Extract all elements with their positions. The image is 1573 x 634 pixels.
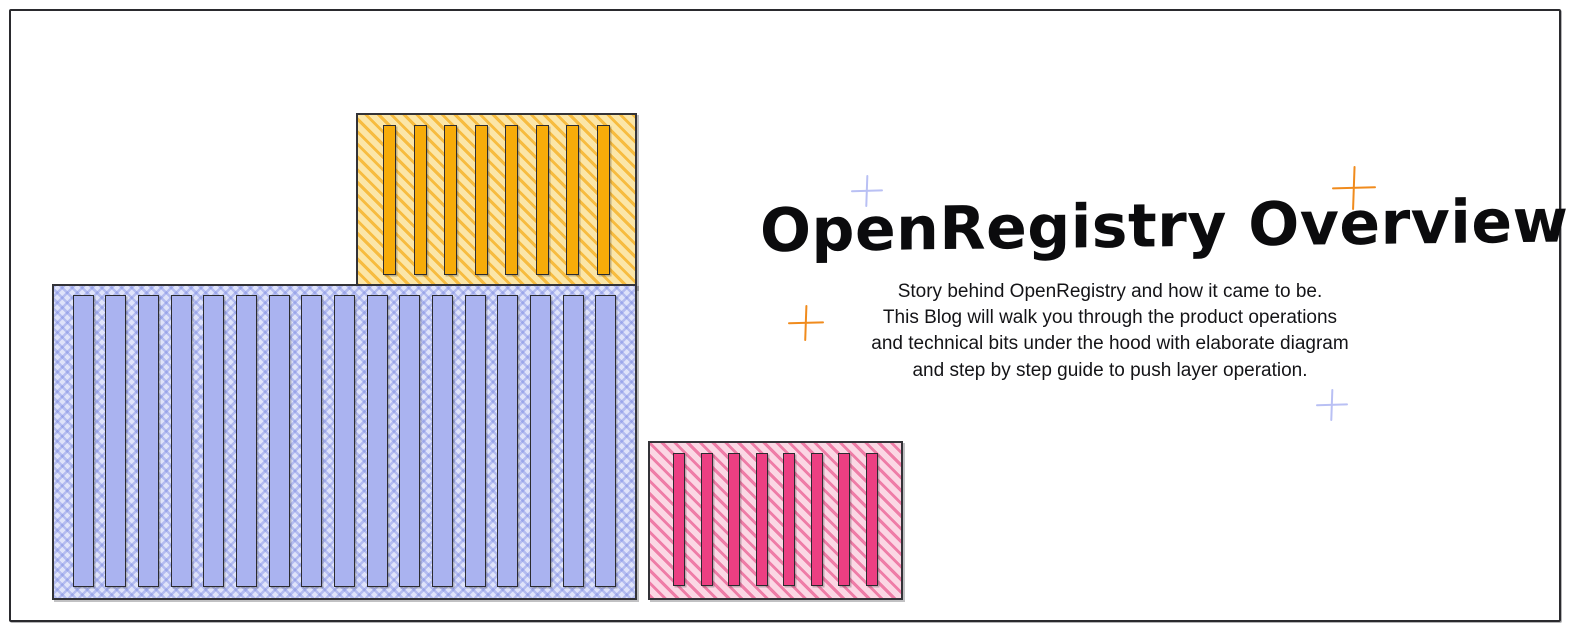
layer-bar: [367, 295, 388, 587]
subtitle-line: and step by step guide to push layer ope…: [760, 358, 1460, 384]
layer-bar: [866, 453, 878, 586]
sparkle-cross-icon: [1316, 389, 1348, 421]
layer-bar: [301, 295, 322, 587]
yellow-layer-container: [356, 113, 637, 289]
layer-bar: [432, 295, 453, 587]
page-title: OpenRegistry Overview: [760, 192, 1460, 264]
subtitle-line: and technical bits under the hood with e…: [760, 331, 1460, 357]
blue-layer-container: [52, 284, 637, 600]
layer-bar: [497, 295, 518, 587]
cover-illustration-canvas: OpenRegistry Overview Story behind OpenR…: [0, 0, 1573, 634]
layer-bar: [203, 295, 224, 587]
pink-layer-container: [648, 441, 903, 600]
layer-bar: [530, 295, 551, 587]
pink-bar-group: [650, 443, 901, 598]
layer-bar: [399, 295, 420, 587]
subtitle-line: Story behind OpenRegistry and how it cam…: [760, 279, 1460, 305]
layer-bar: [536, 125, 549, 275]
layer-bar: [269, 295, 290, 587]
layer-bar: [236, 295, 257, 587]
layer-bar: [783, 453, 795, 586]
layer-bar: [505, 125, 518, 275]
layer-bar: [811, 453, 823, 586]
layer-bar: [563, 295, 584, 587]
subtitle-line: This Blog will walk you through the prod…: [760, 305, 1460, 331]
layer-bar: [475, 125, 488, 275]
layer-bar: [444, 125, 457, 275]
layer-bar: [171, 295, 192, 587]
layer-bar: [334, 295, 355, 587]
layer-bar: [701, 453, 713, 586]
layer-bar: [597, 125, 610, 275]
layer-bar: [73, 295, 94, 587]
yellow-bar-group: [358, 115, 635, 287]
layer-bar: [465, 295, 486, 587]
page-subtitle: Story behind OpenRegistry and how it cam…: [760, 279, 1460, 384]
layer-bar: [105, 295, 126, 587]
layer-bar: [383, 125, 396, 275]
layer-bar: [838, 453, 850, 586]
text-panel: OpenRegistry Overview Story behind OpenR…: [760, 196, 1460, 384]
layer-bar: [756, 453, 768, 586]
layer-bar: [728, 453, 740, 586]
blue-bar-group: [54, 286, 635, 598]
layer-bar: [566, 125, 579, 275]
layer-bar: [414, 125, 427, 275]
layer-bar: [673, 453, 685, 586]
layer-bar: [595, 295, 616, 587]
layer-bar: [138, 295, 159, 587]
